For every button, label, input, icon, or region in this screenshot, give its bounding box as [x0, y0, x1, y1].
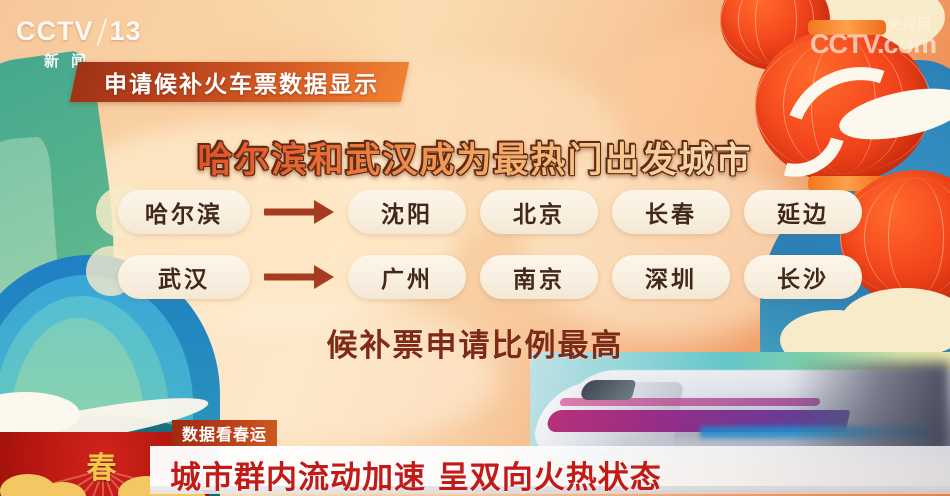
destination-city-pill[interactable]: 深圳 — [612, 255, 730, 299]
lower-third-tag: 数据看春运 — [172, 420, 277, 446]
origin-city-pill[interactable]: 武汉 — [118, 255, 250, 299]
origin-city-pill[interactable]: 哈尔滨 — [118, 190, 250, 234]
page-title: 哈尔滨和武汉成为最热门出发城市 — [0, 132, 950, 183]
destination-city-pill[interactable]: 长沙 — [744, 255, 862, 299]
lower-third: 数据看春运 城市群内流动加速 呈双向火热状态 — [0, 408, 950, 496]
decor-lantern-cap — [808, 20, 886, 35]
destination-city-pill[interactable]: 北京 — [480, 190, 598, 234]
page-title-text: 哈尔滨和武汉成为最热门出发城市 — [197, 141, 752, 181]
destination-city-pill[interactable]: 沈阳 — [348, 190, 466, 234]
destination-city-pill[interactable]: 广州 — [348, 255, 466, 299]
destination-city-pill[interactable]: 延边 — [744, 190, 862, 234]
headline-banner-text: 申请候补火车票数据显示 — [104, 65, 379, 99]
headline-banner: 申请候补火车票数据显示 — [70, 62, 410, 102]
route-row: 武汉 广州 南京 深圳 长沙 — [0, 255, 950, 299]
arrow-right-icon — [260, 255, 338, 299]
sub-caption: 候补票申请比例最高 — [0, 320, 950, 365]
destination-group: 广州 南京 深圳 长沙 — [348, 255, 862, 299]
destination-city-pill[interactable]: 长春 — [612, 190, 730, 234]
cctv-channel-number: 13 — [110, 18, 142, 45]
route-row: 哈尔滨 沈阳 北京 长春 延边 — [0, 190, 950, 234]
cctv-wordmark: CCTV — [16, 18, 94, 45]
lower-third-headline: 城市群内流动加速 呈双向火热状态 — [170, 452, 662, 496]
logo-slash-icon — [96, 19, 106, 45]
broadcast-graphic-frame: 春 CCTV 13 新闻 央视网 CCTV.com 申请候补火车票数据显示 哈尔… — [0, 0, 950, 496]
destination-city-pill[interactable]: 南京 — [480, 255, 598, 299]
arrow-right-icon — [260, 190, 338, 234]
destination-group: 沈阳 北京 长春 延边 — [348, 190, 862, 234]
